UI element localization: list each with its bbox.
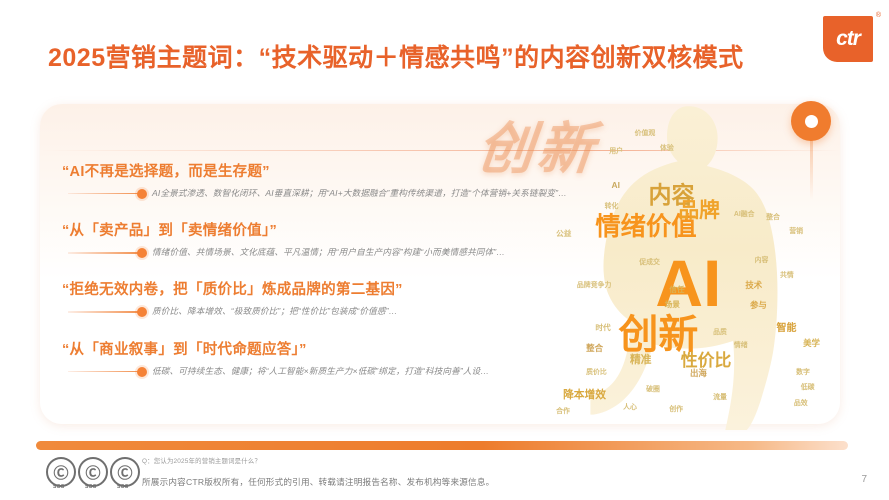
bullet-headline: “拒绝无效内卷，把「质价比」炼成品牌的第二基因” bbox=[62, 278, 582, 299]
bullet-dot-icon bbox=[137, 248, 147, 258]
bullet-dot-icon bbox=[137, 367, 147, 377]
sgs-badge: ⒸSGS bbox=[110, 457, 140, 491]
registered-mark-icon: ® bbox=[876, 12, 881, 19]
bullet-detail: 低碳、可持续生态、健康；将“人工智能×新质生产力×低碳”绑定，打造“科技向善”人… bbox=[152, 366, 489, 377]
bullet-detail: AI全景式渗透、数智化闭环、AI垂直深耕；用“AI+大数据融合”重构传统渠道，打… bbox=[152, 188, 567, 199]
sgs-badge-label: SGS bbox=[85, 484, 96, 490]
sgs-badge: ⒸSGS bbox=[46, 457, 76, 491]
footer-question: Q：您认为2025年的营销主题词是什么？ bbox=[142, 456, 261, 465]
footer-bar bbox=[36, 441, 848, 450]
page-title: 2025营销主题词：“技术驱动＋情感共鸣”的内容创新双核模式 bbox=[48, 38, 744, 74]
bullet-connector-icon bbox=[68, 189, 146, 198]
bullet-detail-row: 情绪价值、共情场景、文化底蕴、平凡温情；用“用户自生产内容”构建“小而美情感共同… bbox=[62, 247, 582, 258]
ctr-logo: ctr bbox=[823, 16, 873, 62]
bullet-headline: “从「商业叙事」到「时代命题应答」” bbox=[62, 338, 582, 359]
bullet-connector-icon bbox=[68, 307, 146, 316]
bullet-item: “从「商业叙事」到「时代命题应答」”低碳、可持续生态、健康；将“人工智能×新质生… bbox=[62, 338, 582, 377]
sgs-badge-icon: Ⓒ bbox=[46, 457, 76, 487]
bullet-headline: “AI不再是选择题，而是生存题” bbox=[62, 160, 582, 181]
sgs-badge-icon: Ⓒ bbox=[78, 457, 108, 487]
bullet-detail: 情绪价值、共情场景、文化底蕴、平凡温情；用“用户自生产内容”构建“小而美情感共同… bbox=[152, 247, 505, 258]
bullet-detail: 质价比、降本增效、“极致质价比”；把“性价比”包装成“价值感”… bbox=[152, 306, 397, 317]
sgs-badge-label: SGS bbox=[117, 484, 128, 490]
bullet-detail-row: AI全景式渗透、数智化闭环、AI垂直深耕；用“AI+大数据融合”重构传统渠道，打… bbox=[62, 188, 582, 199]
sgs-badge-label: SGS bbox=[53, 484, 64, 490]
sgs-badge: ⒸSGS bbox=[78, 457, 108, 491]
footer-copyright-note: 所展示内容CTR版权所有，任何形式的引用、转载请注明报告名称、发布机构等来源信息… bbox=[142, 476, 494, 488]
word-cloud-figure: AI创新情绪价值内容品牌性价比降本增效精准AI智能美学技术参与出海整合时代公益质… bbox=[540, 100, 840, 430]
ctr-logo-text: ctr bbox=[836, 27, 860, 51]
bullet-dot-icon bbox=[137, 307, 147, 317]
word-cloud-silhouette-icon bbox=[540, 100, 840, 430]
page-number: 7 bbox=[861, 474, 867, 485]
sgs-badge-icon: Ⓒ bbox=[110, 457, 140, 487]
bullet-connector-icon bbox=[68, 367, 146, 376]
bullet-dot-icon bbox=[137, 189, 147, 199]
bullet-headline: “从「卖产品」到「卖情绪价值」” bbox=[62, 219, 582, 240]
bullet-item: “拒绝无效内卷，把「质价比」炼成品牌的第二基因”质价比、降本增效、“极致质价比”… bbox=[62, 278, 582, 317]
bullet-item: “从「卖产品」到「卖情绪价值」”情绪价值、共情场景、文化底蕴、平凡温情；用“用户… bbox=[62, 219, 582, 258]
bullet-connector-icon bbox=[68, 248, 146, 257]
slide: 2025营销主题词：“技术驱动＋情感共鸣”的内容创新双核模式 ctr ® 创新 bbox=[0, 0, 889, 500]
bullet-detail-row: 低碳、可持续生态、健康；将“人工智能×新质生产力×低碳”绑定，打造“科技向善”人… bbox=[62, 366, 582, 377]
bullet-list: “AI不再是选择题，而是生存题”AI全景式渗透、数智化闭环、AI垂直深耕；用“A… bbox=[62, 160, 582, 397]
certification-badges: ⒸSGSⒸSGSⒸSGS bbox=[46, 457, 140, 491]
bullet-item: “AI不再是选择题，而是生存题”AI全景式渗透、数智化闭环、AI垂直深耕；用“A… bbox=[62, 160, 582, 199]
bullet-detail-row: 质价比、降本增效、“极致质价比”；把“性价比”包装成“价值感”… bbox=[62, 306, 582, 317]
